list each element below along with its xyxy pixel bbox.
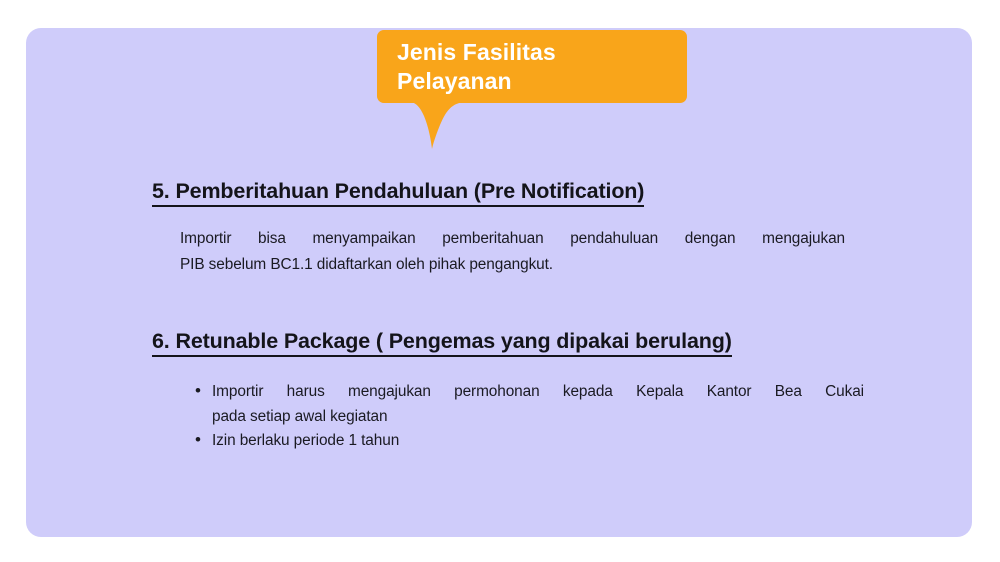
callout-title: Jenis Fasilitas Pelayanan	[397, 38, 657, 95]
section-5-heading-text: 5. Pemberitahuan Pendahuluan (Pre Notifi…	[152, 179, 644, 207]
section-6-bullet-list: Importir harus mengajukan permohonan kep…	[194, 380, 864, 454]
list-item: Importir harus mengajukan permohonan kep…	[212, 380, 864, 429]
section-5-paragraph-line-1: Importir bisa menyampaikan pemberitahuan…	[177, 226, 845, 252]
slide-canvas: Jenis Fasilitas Pelayanan 5. Pemberitahu…	[26, 28, 972, 537]
bullet-1-line-1: Importir harus mengajukan permohonan kep…	[212, 380, 864, 405]
bullet-2-line-1: Izin berlaku periode 1 tahun	[212, 429, 864, 454]
bullet-1-line-2: pada setiap awal kegiatan	[212, 405, 864, 430]
callout-bubble-tail-icon	[411, 96, 471, 150]
section-5-heading: 5. Pemberitahuan Pendahuluan (Pre Notifi…	[152, 178, 644, 204]
list-item: Izin berlaku periode 1 tahun	[212, 429, 864, 454]
callout-speech-bubble: Jenis Fasilitas Pelayanan	[351, 30, 687, 150]
section-6-heading: 6. Retunable Package ( Pengemas yang dip…	[152, 328, 732, 354]
section-5-paragraph-line-2: PIB sebelum BC1.1 didaftarkan oleh pihak…	[177, 252, 845, 278]
section-5-paragraph: Importir bisa menyampaikan pemberitahuan…	[177, 226, 845, 277]
section-6-heading-text-main: 6. Retunable Package ( Pengemas yang dip…	[152, 329, 732, 357]
